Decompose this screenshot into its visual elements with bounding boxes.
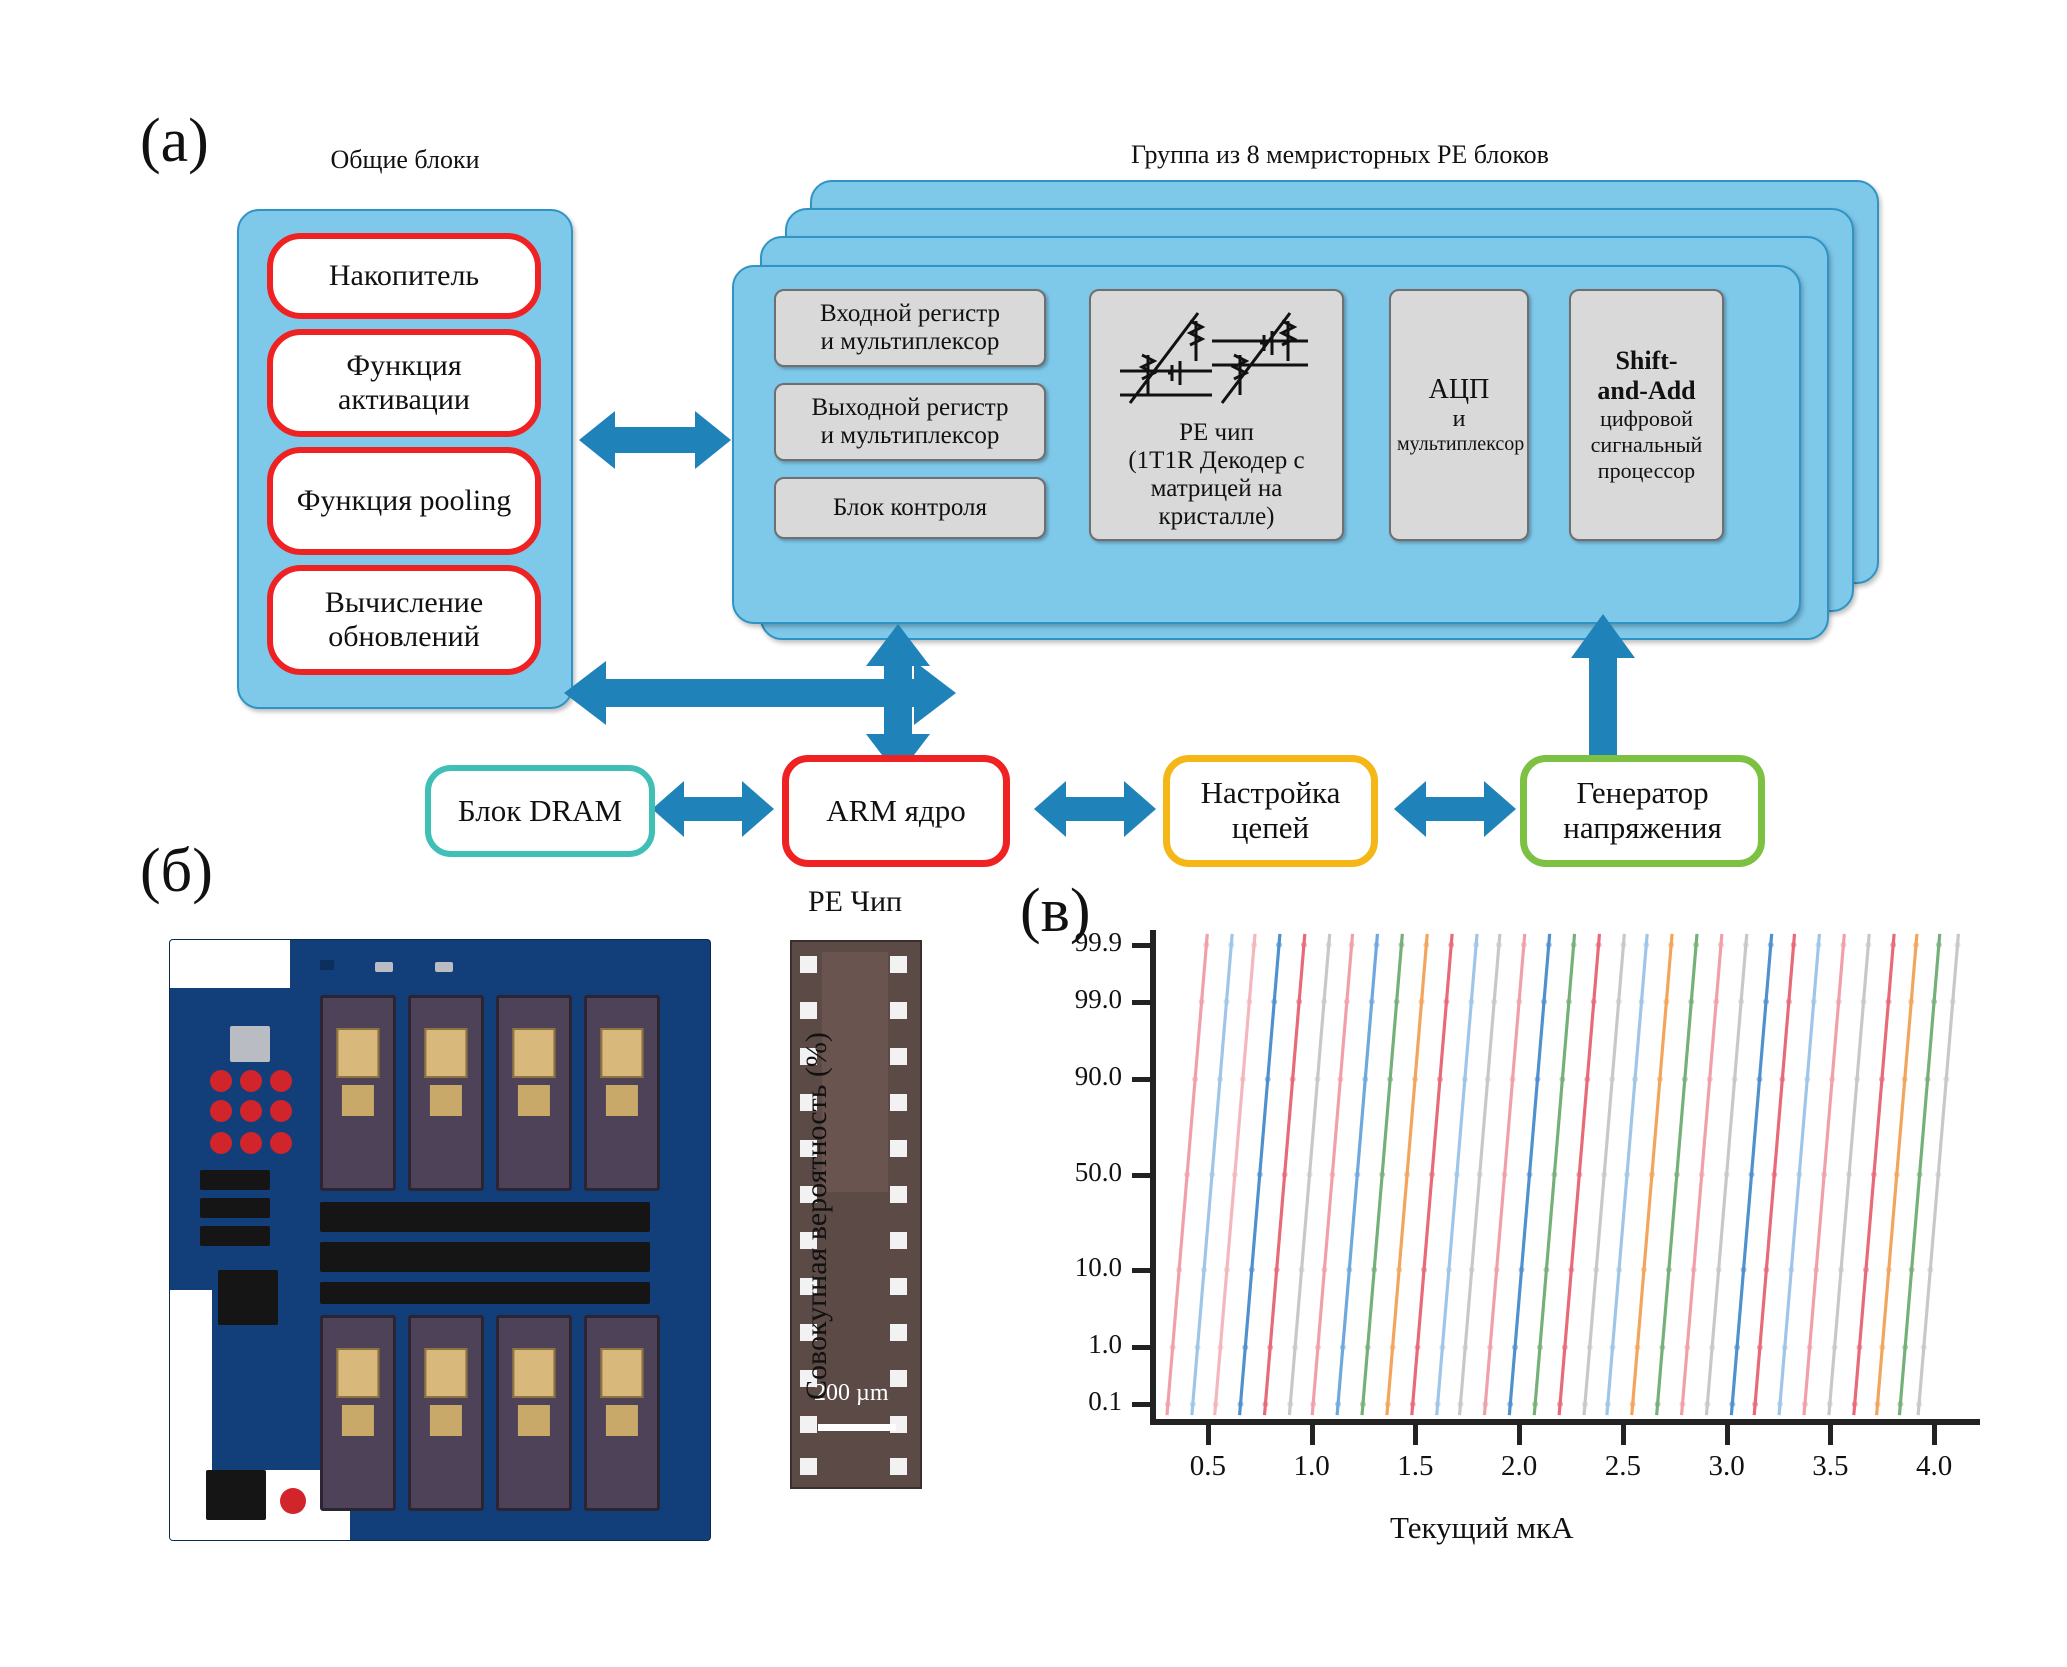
y-tick-label: 50.0: [1012, 1157, 1122, 1188]
dsp-line: Shift-: [1577, 346, 1716, 376]
shared-item-activation[interactable]: Функция активации: [267, 329, 541, 437]
arrow-arm-to-tuning: [1030, 776, 1160, 842]
x-tick: [1206, 1425, 1211, 1445]
shared-blocks-panel: Накопитель Функция активации Функция poo…: [237, 209, 573, 709]
pe-chip-block[interactable]: PE чип (1T1R Декодер с матрицей на крист…: [1089, 289, 1344, 541]
dsp-line: процессор: [1577, 458, 1716, 484]
x-tick: [1725, 1425, 1730, 1445]
pe-subblock-input-register[interactable]: Входной регистр и мультиплексор: [774, 289, 1046, 367]
pe-group-title: Группа из 8 мемристорных PE блоков: [1030, 140, 1650, 170]
shared-item-label: Накопитель: [329, 259, 479, 293]
y-tick-label: 90.0: [1012, 1061, 1122, 1092]
pe-subblock-line: и мультиплексор: [782, 328, 1038, 356]
pe-subblock-control[interactable]: Блок контроля: [774, 477, 1046, 539]
y-tick: [1132, 1345, 1152, 1350]
pe-module: [496, 1315, 572, 1511]
pe-module: [320, 995, 396, 1191]
bottom-block-circuit-tuning[interactable]: Настройка цепей: [1163, 755, 1378, 867]
x-axis-title: Текущий мкА: [1390, 1510, 1574, 1546]
dsp-line: цифровой: [1577, 406, 1716, 432]
x-tick-label: 1.0: [1267, 1450, 1357, 1483]
crossbar-1t1r-icon: [1112, 295, 1322, 415]
x-tick: [1310, 1425, 1315, 1445]
shared-blocks-title: Общие блоки: [260, 145, 550, 175]
bottom-block-label: Блок DRAM: [458, 794, 622, 829]
shared-item-label: Вычисление обновлений: [279, 586, 529, 653]
pe-module: [584, 1315, 660, 1511]
bottom-block-label: Настройка цепей: [1178, 776, 1363, 845]
x-tick: [1621, 1425, 1626, 1445]
pe-card-front: Входной регистр и мультиплексор Выходной…: [732, 265, 1801, 624]
x-tick-label: 2.5: [1578, 1450, 1668, 1483]
y-axis-title: Совокупная вероятность (%): [800, 1032, 834, 1400]
adc-block[interactable]: АЦП и мультиплексор: [1389, 289, 1529, 541]
bottom-block-label: Генератор напряжения: [1535, 776, 1750, 845]
y-tick: [1132, 1268, 1152, 1273]
pe-module: [496, 995, 572, 1191]
x-tick: [1828, 1425, 1833, 1445]
x-tick: [1517, 1425, 1522, 1445]
pe-module: [408, 995, 484, 1191]
pe-chip-line: кристалле): [1097, 503, 1336, 531]
y-tick: [1132, 1402, 1152, 1407]
shared-item-pooling[interactable]: Функция pooling: [267, 447, 541, 555]
pe-module: [584, 995, 660, 1191]
bottom-block-dram[interactable]: Блок DRAM: [425, 765, 655, 857]
dsp-line: сигнальный: [1577, 432, 1716, 458]
adc-line: и: [1397, 406, 1521, 433]
plot-area: [1156, 930, 1986, 1419]
y-tick: [1132, 1000, 1152, 1005]
pe-subblock-line: и мультиплексор: [782, 422, 1038, 450]
pe-chip-caption: PE Чип: [760, 885, 950, 919]
pe-chip-line: PE чип: [1097, 419, 1336, 447]
bottom-block-voltage-generator[interactable]: Генератор напряжения: [1520, 755, 1765, 867]
pe-module: [408, 1315, 484, 1511]
x-tick-label: 0.5: [1163, 1450, 1253, 1483]
x-tick: [1413, 1425, 1418, 1445]
panel-letter-b: (б): [140, 840, 213, 902]
x-tick-label: 2.0: [1474, 1450, 1564, 1483]
shift-and-add-dsp-block[interactable]: Shift- and-Add цифровой сигнальный проце…: [1569, 289, 1724, 541]
pe-subblock-line: Выходной регистр: [782, 394, 1038, 422]
shared-item-label: Функция активации: [279, 349, 529, 416]
cumulative-probability-chart: 0.11.010.050.090.099.099.9 0.51.01.52.02…: [1060, 930, 1990, 1490]
scale-bar: [818, 1424, 896, 1431]
pe-module: [320, 1315, 396, 1511]
bottom-block-arm-core[interactable]: ARM ядро: [782, 755, 1010, 867]
y-tick-label: 99.0: [1012, 984, 1122, 1015]
arrow-shared-to-pe: [575, 405, 735, 475]
dsp-line: and-Add: [1577, 376, 1716, 406]
y-tick-label: 0.1: [1012, 1386, 1122, 1417]
y-tick-label: 1.0: [1012, 1329, 1122, 1360]
pe-chip-line: матрицей на: [1097, 475, 1336, 503]
x-tick-label: 4.0: [1889, 1450, 1979, 1483]
arrow-dram-to-arm: [648, 776, 778, 842]
x-tick: [1932, 1425, 1937, 1445]
y-tick-label: 10.0: [1012, 1252, 1122, 1283]
bottom-block-label: ARM ядро: [826, 794, 965, 829]
x-axis: [1150, 1419, 1980, 1425]
shared-item-storage[interactable]: Накопитель: [267, 233, 541, 319]
x-tick-label: 3.5: [1785, 1450, 1875, 1483]
pe-subblock-line: Входной регистр: [782, 300, 1038, 328]
shared-item-update-computation[interactable]: Вычисление обновлений: [267, 565, 541, 675]
pcb-photo: [170, 940, 710, 1540]
pe-subblock-line: Блок контроля: [782, 494, 1038, 522]
panel-letter-a: (а): [140, 110, 209, 172]
y-tick: [1132, 1173, 1152, 1178]
x-tick-label: 3.0: [1682, 1450, 1772, 1483]
adc-line: мультиплексор: [1397, 433, 1521, 456]
y-tick: [1132, 1077, 1152, 1082]
pe-subblock-output-register[interactable]: Выходной регистр и мультиплексор: [774, 383, 1046, 461]
adc-line: АЦП: [1397, 374, 1521, 406]
y-tick: [1132, 943, 1152, 948]
pe-chip-line: (1T1R Декодер с: [1097, 447, 1336, 475]
arrow-tuning-to-generator: [1390, 776, 1520, 842]
figure-root: (а) (б) (в) Общие блоки Группа из 8 мемр…: [0, 0, 2067, 1667]
y-tick-label: 99.9: [1012, 927, 1122, 958]
x-tick-label: 1.5: [1370, 1450, 1460, 1483]
shared-item-label: Функция pooling: [297, 484, 511, 518]
